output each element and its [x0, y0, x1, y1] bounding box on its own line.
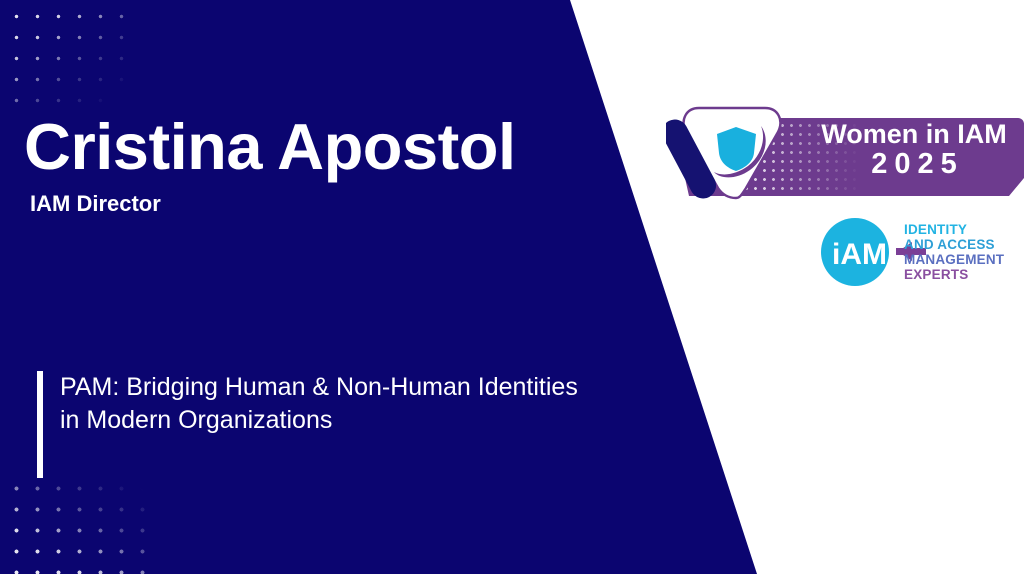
iam-tagline-line-1: IDENTITY — [904, 222, 1004, 237]
badge-title: Women in IAM — [808, 120, 1020, 148]
speaker-role: IAM Director — [30, 193, 161, 215]
iam-tagline-line-3: MANAGEMENT — [904, 252, 1004, 267]
talk-title-line-2: in Modern Organizations — [60, 404, 578, 437]
speaker-name: Cristina Apostol — [24, 114, 516, 179]
iam-tagline: IDENTITY AND ACCESS MANAGEMENT EXPERTS — [904, 222, 1004, 282]
badge-year: 2025 — [808, 148, 1020, 180]
iam-tagline-line-4: EXPERTS — [904, 267, 1004, 282]
women-in-iam-badge: Women in IAM 2025 — [666, 100, 1024, 208]
talk-title-accent-bar — [37, 371, 43, 478]
talk-title: PAM: Bridging Human & Non-Human Identiti… — [60, 371, 578, 437]
talk-title-line-1: PAM: Bridging Human & Non-Human Identiti… — [60, 371, 578, 404]
svg-text:iAM: iAM — [832, 238, 887, 271]
shield-emblem-icon — [666, 100, 796, 208]
title-slide: Cristina Apostol IAM Director PAM: Bridg… — [0, 0, 1024, 574]
iam-experts-logo: iAM IDENTITY AND ACCESS MANAGEMENT EXPER… — [818, 216, 1018, 288]
talk-title-block: PAM: Bridging Human & Non-Human Identiti… — [37, 371, 578, 478]
iam-tagline-line-2: AND ACCESS — [904, 237, 1004, 252]
badge-text-group: Women in IAM 2025 — [808, 120, 1020, 181]
